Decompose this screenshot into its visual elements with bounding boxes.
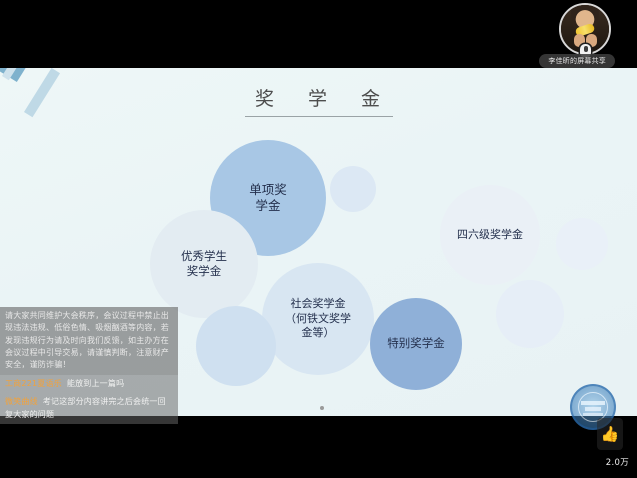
screen-share-label: 李佳昕的屏幕共享 (539, 54, 615, 68)
bubble-shehui: 社会奖学金（何铁文奖学金等） (262, 263, 374, 375)
bubble-label-line: 奖学金 (181, 264, 227, 279)
slide-title-wrap: 奖 学 金 (0, 84, 637, 117)
like-button[interactable]: 👍 (597, 418, 623, 450)
bubble-label: 特别奖学金 (387, 336, 445, 351)
chat-username: 工商221夏语乐 (5, 379, 62, 388)
bubble-blank-far (556, 218, 608, 270)
like-count: 2.0万 (606, 456, 629, 468)
chat-overlay: 请大家共同维护大会秩序，会议过程中禁止出现违法违规、低俗色情、吸烟酗酒等内容，若… (0, 307, 178, 424)
seal-mark-3 (583, 413, 603, 416)
bubble-label: 社会奖学金（何铁文奖学金等） (285, 297, 351, 341)
chat-text: 能放到上一篇吗 (67, 379, 124, 388)
bubble-label: 单项奖学金 (249, 182, 287, 215)
chat-message: 微笑曲线考记这部分内容讲完之后会统一回复大家的问题 (0, 393, 178, 424)
seal-mark-1 (581, 401, 605, 405)
chat-message-list: 工商221夏语乐能放到上一篇吗微笑曲线考记这部分内容讲完之后会统一回复大家的问题 (0, 375, 178, 424)
title-underline (245, 116, 393, 117)
slide-title: 奖 学 金 (239, 84, 398, 116)
bubble-label: 四六级奖学金 (457, 228, 523, 243)
bubble-label-line: 社会奖学金 (285, 297, 351, 312)
page-indicator (320, 406, 324, 410)
thumbs-up-icon: 👍 (601, 427, 620, 442)
bubble-label-line: （何铁文奖学 (285, 312, 351, 327)
chat-message: 工商221夏语乐能放到上一篇吗 (0, 375, 178, 393)
seal-mark-2 (585, 407, 601, 411)
bubble-label-line: 单项奖 (249, 182, 287, 199)
bubble-label-line: 特别奖学金 (387, 336, 445, 351)
bubble-label-line: 学金 (249, 198, 287, 215)
bubble-tebie: 特别奖学金 (370, 298, 462, 390)
bubble-label: 优秀学生奖学金 (181, 249, 227, 279)
chat-username: 微笑曲线 (5, 397, 38, 406)
bubble-blank-tr (330, 166, 376, 212)
bubble-siliuji: 四六级奖学金 (440, 185, 540, 285)
bubble-blank-bl (196, 306, 276, 386)
bubble-youxiu: 优秀学生奖学金 (150, 210, 258, 318)
bubble-label-line: 四六级奖学金 (457, 228, 523, 243)
bubble-blank-r (496, 280, 564, 348)
bubble-label-line: 优秀学生 (181, 249, 227, 264)
meeting-screen-share-view: 李佳昕的屏幕共享 奖 学 金 单项奖学金优秀学生奖学金社会奖学金（何铁文奖学金等… (0, 0, 637, 478)
bubble-label-line: 金等） (285, 326, 351, 341)
chat-system-message: 请大家共同维护大会秩序，会议过程中禁止出现违法违规、低俗色情、吸烟酗酒等内容，若… (0, 307, 178, 375)
